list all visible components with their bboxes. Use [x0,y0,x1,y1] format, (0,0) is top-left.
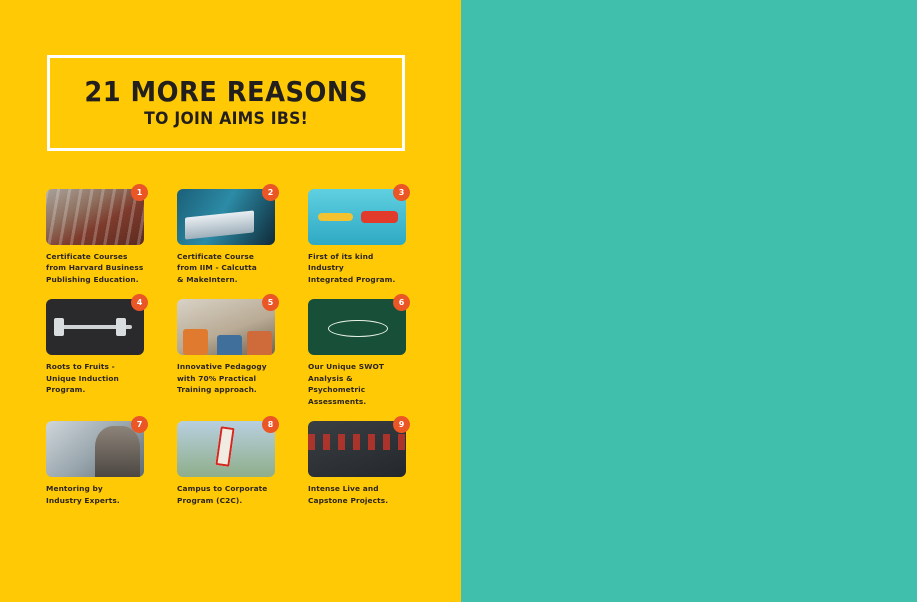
card-number-badge: 6 [393,294,410,311]
card-caption: Mentoring by Industry Experts. [46,483,144,506]
left-yellow-panel: 21 MORE REASONS TO JOIN AIMS IBS! 1Certi… [0,0,461,602]
reason-card[interactable]: 5Innovative Pedagogy with 70% Practical … [177,299,275,407]
students-lab-visit-photo [308,421,406,477]
card-image-art [177,299,275,355]
card-image-art [177,189,275,245]
card-number-badge: 3 [393,184,410,201]
reason-card[interactable]: 2Certificate Course from IIM - Calcutta … [177,189,275,285]
card-thumbnail[interactable]: 5 [177,299,275,355]
left-card-grid: 1Certificate Courses from Harvard Busine… [46,189,406,506]
person-using-laptop-photo [177,189,275,245]
card-image-art [46,421,144,477]
card-number-badge: 9 [393,416,410,433]
page-title: 21 MORE REASONS [84,77,368,106]
mentor-with-students-photo [46,421,144,477]
card-caption: Certificate Courses from Harvard Busines… [46,251,144,285]
reason-card[interactable]: 9Intense Live and Capstone Projects. [308,421,406,506]
swot-analysis-chalkboard [308,299,406,355]
card-thumbnail[interactable]: 6 [308,299,406,355]
card-image-art [177,421,275,477]
title-box: 21 MORE REASONS TO JOIN AIMS IBS! [47,55,405,151]
card-image-art [46,189,144,245]
card-thumbnail[interactable]: 8 [177,421,275,477]
card-image-art [46,299,144,355]
card-caption: Innovative Pedagogy with 70% Practical T… [177,361,275,395]
card-caption: Intense Live and Capstone Projects. [308,483,406,506]
classroom-lecture-photo [177,299,275,355]
card-thumbnail[interactable]: 1 [46,189,144,245]
plug-connectors-photo [308,189,406,245]
card-image-art [308,421,406,477]
harvard-business-school-building-photo [46,189,144,245]
reason-card[interactable]: 7Mentoring by Industry Experts. [46,421,144,506]
card-thumbnail[interactable]: 4 [46,299,144,355]
card-number-badge: 7 [131,416,148,433]
card-thumbnail[interactable]: 9 [308,421,406,477]
reason-card[interactable]: 3First of its kind Industry Integrated P… [308,189,406,285]
card-thumbnail[interactable]: 7 [46,421,144,477]
card-caption: Campus to Corporate Program (C2C). [177,483,275,506]
card-number-badge: 4 [131,294,148,311]
card-caption: Roots to Fruits - Unique Induction Progr… [46,361,144,395]
card-caption: Our Unique SWOT Analysis & Psychometric … [308,361,406,407]
card-thumbnail[interactable]: 3 [308,189,406,245]
card-number-badge: 2 [262,184,279,201]
card-caption: Certificate Course from IIM - Calcutta &… [177,251,275,285]
reason-card[interactable]: 4Roots to Fruits - Unique Induction Prog… [46,299,144,407]
barbell-chalkboard-illustration [46,299,144,355]
reason-card[interactable]: 8Campus to Corporate Program (C2C). [177,421,275,506]
right-teal-panel: 10Dual Specialisation with 360° Training… [461,0,917,602]
card-image-art [308,189,406,245]
graduation-diploma-hand-photo [177,421,275,477]
page-subtitle: TO JOIN AIMS IBS! [144,110,308,129]
card-number-badge: 8 [262,416,279,433]
card-number-badge: 1 [131,184,148,201]
card-caption: First of its kind Industry Integrated Pr… [308,251,406,285]
reason-card[interactable]: 6Our Unique SWOT Analysis & Psychometric… [308,299,406,407]
reason-card[interactable]: 1Certificate Courses from Harvard Busine… [46,189,144,285]
card-thumbnail[interactable]: 2 [177,189,275,245]
card-number-badge: 5 [262,294,279,311]
poster-canvas: 21 MORE REASONS TO JOIN AIMS IBS! 1Certi… [0,0,917,602]
card-image-art [308,299,406,355]
